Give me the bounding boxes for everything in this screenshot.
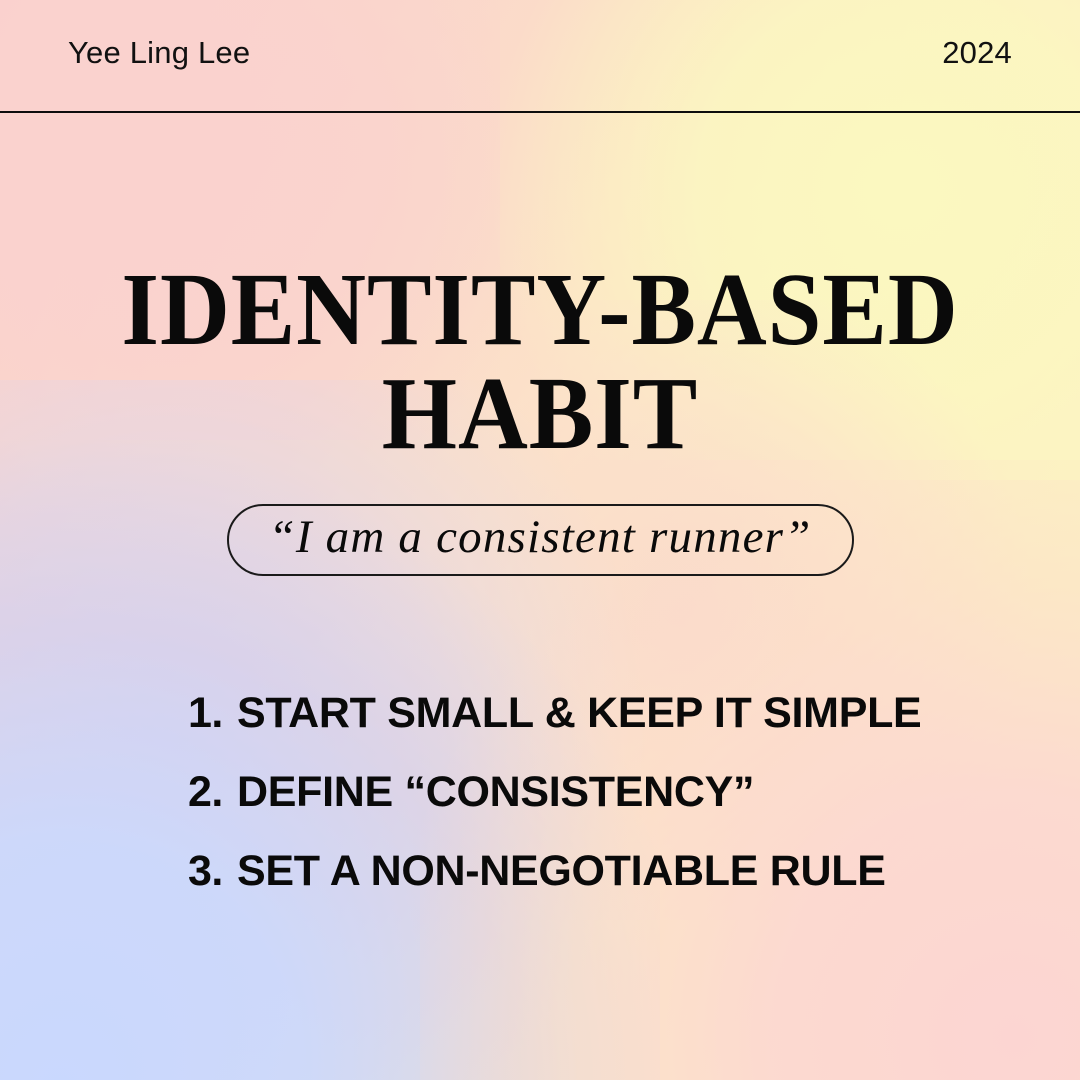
list-item: 3. SET A NON-NEGOTIABLE RULE (188, 847, 1068, 926)
page-title-line-1: IDENTITY-BASED (94, 258, 987, 362)
list-item: 1. START SMALL & KEEP IT SIMPLE (188, 689, 1068, 768)
step-number: 3. (188, 847, 237, 896)
quote-section: “I am a consistent runner” (0, 504, 1080, 576)
list-item: 2. DEFINE “CONSISTENCY” (188, 768, 1068, 847)
quote-pill: “I am a consistent runner” (227, 504, 854, 576)
quote-text: “I am a consistent runner” (269, 514, 812, 566)
poster-canvas: Yee Ling Lee 2024 IDENTITY-BASED HABIT “… (0, 0, 1080, 1080)
header-bar: Yee Ling Lee 2024 (0, 0, 1080, 113)
page-title: IDENTITY-BASED HABIT (94, 258, 987, 466)
year-label: 2024 (942, 35, 1012, 71)
step-number: 2. (188, 768, 237, 817)
step-number: 1. (188, 689, 237, 738)
steps-list: 1. START SMALL & KEEP IT SIMPLE 2. DEFIN… (148, 689, 1068, 926)
page-title-line-2: HABIT (94, 362, 987, 466)
step-text: DEFINE “CONSISTENCY” (237, 768, 754, 817)
step-text: SET A NON-NEGOTIABLE RULE (237, 847, 886, 896)
step-text: START SMALL & KEEP IT SIMPLE (237, 689, 921, 738)
author-name: Yee Ling Lee (68, 35, 250, 71)
poster-content: Yee Ling Lee 2024 IDENTITY-BASED HABIT “… (0, 0, 1080, 1080)
